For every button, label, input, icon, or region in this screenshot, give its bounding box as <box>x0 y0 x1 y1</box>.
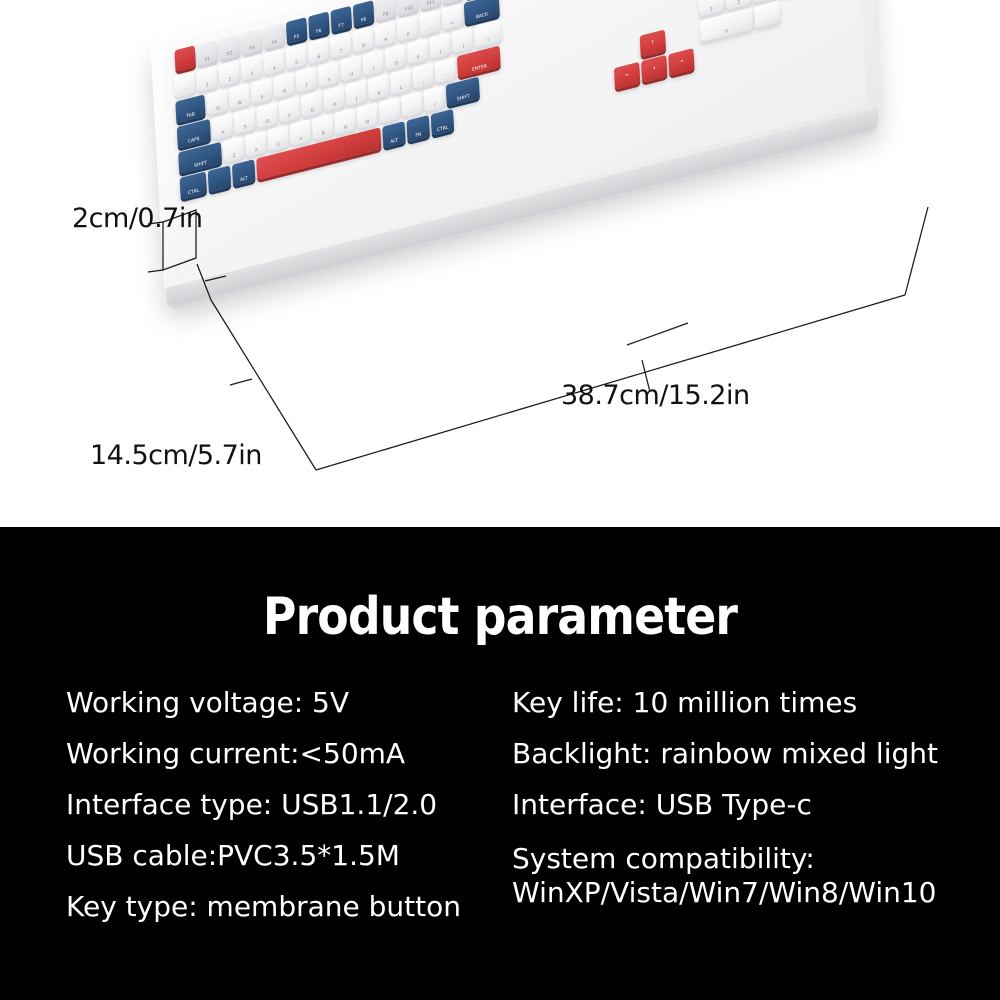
spec-column-left: Working voltage: 5VWorking current:<50mA… <box>66 689 486 944</box>
spec-row: Key life: 10 million times <box>512 689 982 717</box>
product-photo-panel: F1F2F3F4F5F6F7F8F9F10F11F12DeletePgUpPgD… <box>0 0 1000 527</box>
spec-panel-title: Product parameter <box>60 587 940 647</box>
dimension-label-height: 2cm/0.7in <box>72 203 202 234</box>
spec-row: Interface: USB Type-c <box>512 791 982 819</box>
spec-row: USB cable:PVC3.5*1.5M <box>66 842 486 870</box>
spec-row: Interface type: USB1.1/2.0 <box>66 791 486 819</box>
spec-row: Key type: membrane button <box>66 893 486 921</box>
spec-row: Backlight: rainbow mixed light <box>512 740 982 768</box>
specification-panel: Product parameter Working voltage: 5VWor… <box>0 527 1000 1000</box>
spec-row: Working current:<50mA <box>66 740 486 768</box>
dimension-label-width: 38.7cm/15.2in <box>561 380 750 411</box>
product-listing-image: F1F2F3F4F5F6F7F8F9F10F11F12DeletePgUpPgD… <box>0 0 1000 1000</box>
dimension-label-depth: 14.5cm/5.7in <box>90 440 262 471</box>
spec-column-right: Key life: 10 million timesBacklight: rai… <box>512 689 982 933</box>
spec-row: Working voltage: 5V <box>66 689 486 717</box>
spec-row: System compatibility:WinXP/Vista/Win7/Wi… <box>512 842 982 910</box>
